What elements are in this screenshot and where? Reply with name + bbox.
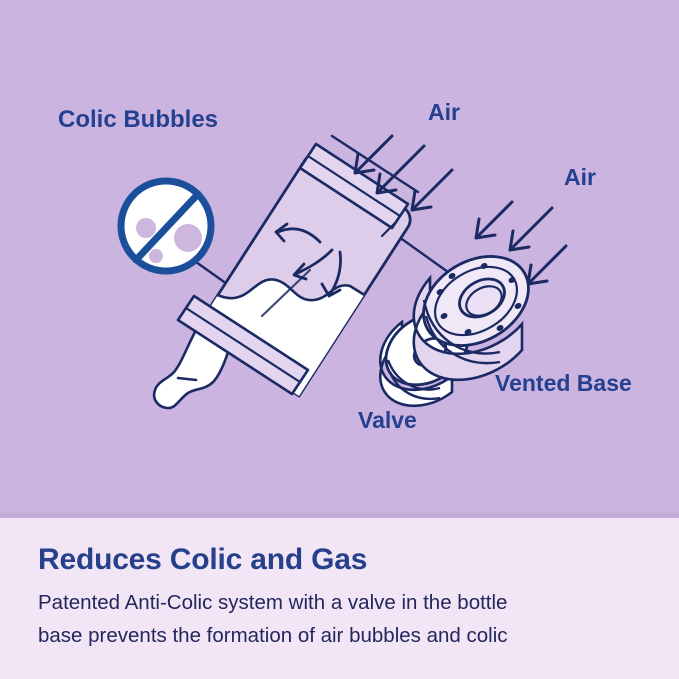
caption-body-line-1: Patented Anti-Colic system with a valve … [38,586,648,619]
anti-colic-diagram [0,0,679,515]
illustration-panel: Colic Bubbles Air Air Valve Vented Base [0,0,679,515]
arrow-down-left-icon [476,202,512,238]
label-air-upper: Air [428,99,460,126]
caption-body-line-2: base prevents the formation of air bubbl… [38,619,648,652]
arrow-down-left-icon [528,246,566,284]
caption-body: Patented Anti-Colic system with a valve … [38,586,648,652]
arrow-down-left-icon [412,170,452,210]
product-feature-card: Colic Bubbles Air Air Valve Vented Base … [0,0,679,679]
no-bubbles-icon [118,181,214,276]
caption-title: Reduces Colic and Gas [38,543,367,577]
caption-panel: Reduces Colic and Gas Patented Anti-Coli… [0,518,679,679]
bubble [174,224,202,252]
bubble [149,249,163,263]
arrow-down-left-icon [510,208,552,250]
label-vented-base: Vented Base [495,370,632,397]
label-valve: Valve [358,407,417,434]
vented-base-disc-icon [408,238,545,379]
label-colic-bubbles: Colic Bubbles [58,106,218,134]
bubble [136,218,156,238]
label-air-right: Air [564,164,596,191]
